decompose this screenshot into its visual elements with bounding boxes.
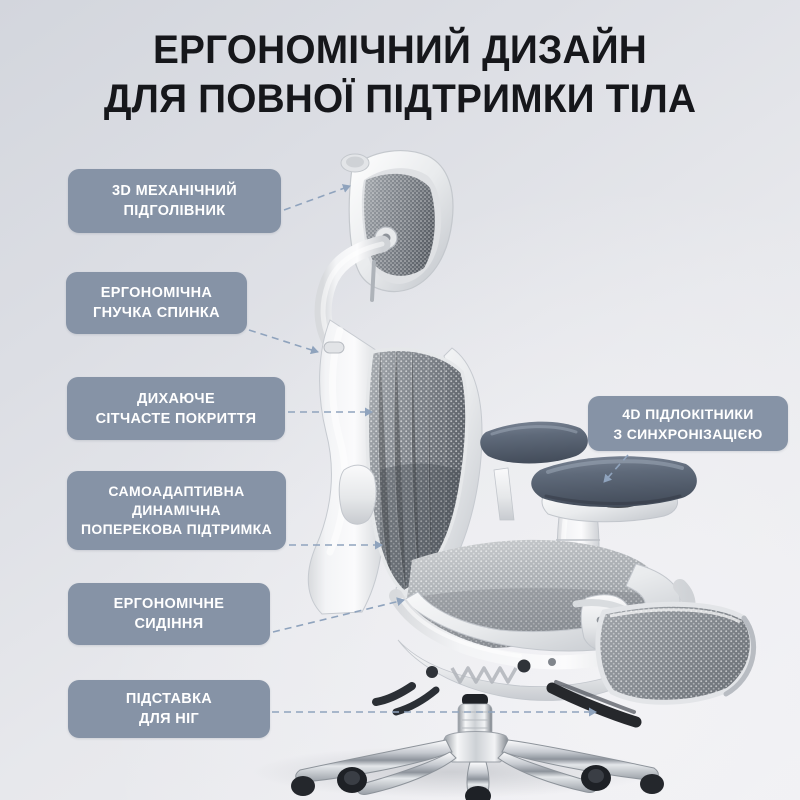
callout-footrest[interactable]: ПІДСТАВКА ДЛЯ НІГ [68, 680, 270, 738]
callout-seat-label: ЕРГОНОМІЧНЕ СИДІННЯ [114, 594, 225, 634]
callout-headrest[interactable]: 3D МЕХАНІЧНИЙ ПІДГОЛІВНИК [68, 169, 281, 233]
callout-backrest[interactable]: ЕРГОНОМІЧНА ГНУЧКА СПИНКА [66, 272, 247, 334]
callout-lumbar-support[interactable]: САМОАДАПТИВНА ДИНАМІЧНА ПОПЕРЕКОВА ПІДТР… [67, 471, 286, 550]
callout-headrest-label: 3D МЕХАНІЧНИЙ ПІДГОЛІВНИК [112, 181, 237, 221]
callout-mesh-cover-label: ДИХАЮЧЕ СІТЧАСТЕ ПОКРИТТЯ [96, 389, 257, 429]
callout-armrests[interactable]: 4D ПІДЛОКІТНИКИ З СИНХРОНІЗАЦІЄЮ [588, 396, 788, 451]
infographic-poster: ЕРГОНОМІЧНИЙ ДИЗАЙН ДЛЯ ПОВНОЇ ПІДТРИМКИ… [0, 0, 800, 800]
callout-lumbar-support-label: САМОАДАПТИВНА ДИНАМІЧНА ПОПЕРЕКОВА ПІДТР… [81, 482, 272, 539]
callout-armrests-label: 4D ПІДЛОКІТНИКИ З СИНХРОНІЗАЦІЄЮ [613, 404, 762, 444]
chair-headrest [323, 151, 453, 344]
callout-footrest-label: ПІДСТАВКА ДЛЯ НІГ [126, 689, 212, 729]
title-line-2: ДЛЯ ПОВНОЇ ПІДТРИМКИ ТІЛА [12, 75, 788, 124]
title-line-1: ЕРГОНОМІЧНИЙ ДИЗАЙН [12, 26, 788, 75]
page-title: ЕРГОНОМІЧНИЙ ДИЗАЙН ДЛЯ ПОВНОЇ ПІДТРИМКИ… [0, 26, 800, 124]
callout-mesh-cover[interactable]: ДИХАЮЧЕ СІТЧАСТЕ ПОКРИТТЯ [67, 377, 285, 440]
callout-seat[interactable]: ЕРГОНОМІЧНЕ СИДІННЯ [68, 583, 270, 645]
callout-backrest-label: ЕРГОНОМІЧНА ГНУЧКА СПИНКА [93, 283, 220, 323]
